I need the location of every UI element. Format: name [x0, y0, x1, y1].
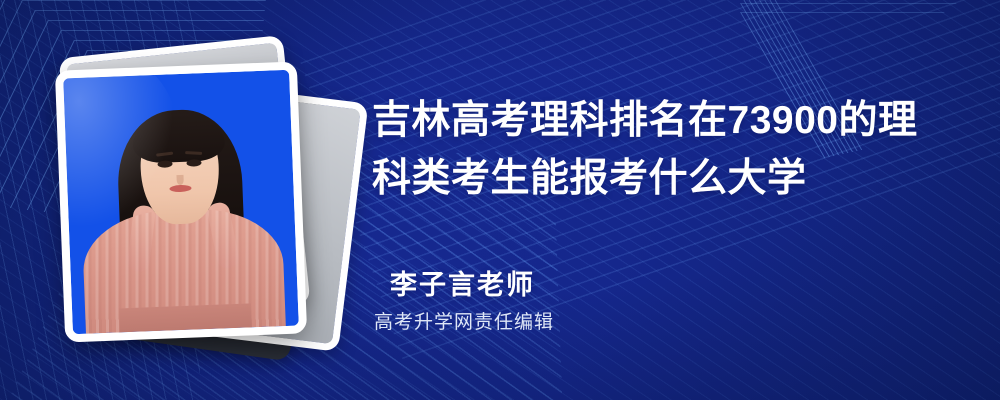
author-photo-card [55, 61, 307, 342]
author-name: 李子言老师 [390, 268, 554, 302]
photo-card-stack [52, 28, 352, 373]
portrait-dress-waistband [119, 303, 252, 332]
banner-text-column: 吉林高考理科排名在73900的理科类考生能报考什么大学 李子言老师 高考升学网责… [372, 0, 972, 400]
article-header-banner: 吉林高考理科排名在73900的理科类考生能报考什么大学 李子言老师 高考升学网责… [0, 0, 1000, 400]
author-role: 高考升学网责任编辑 [374, 310, 554, 336]
author-portrait-photo [63, 70, 299, 334]
page-title: 吉林高考理科排名在73900的理科类考生能报考什么大学 [372, 92, 948, 208]
byline: 李子言老师 高考升学网责任编辑 [390, 268, 554, 336]
